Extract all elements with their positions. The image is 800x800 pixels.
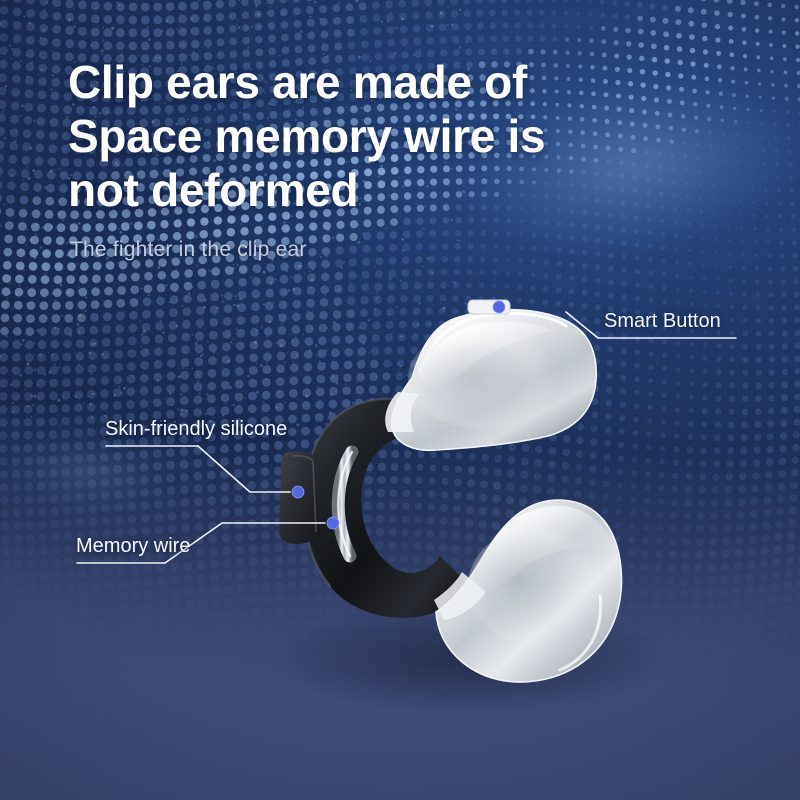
callout-label-memory-wire[interactable]: Memory wire (76, 535, 190, 558)
page-title: Clip ears are made of Space memory wire … (68, 56, 628, 217)
callout-label-smart-button[interactable]: Smart Button (604, 310, 721, 333)
page-subtitle: The fighter in the clip ear (70, 238, 307, 262)
product-banner: Clip ears are made of Space memory wire … (0, 0, 800, 800)
callout-label-skin-friendly-silicone[interactable]: Skin-friendly silicone (105, 418, 287, 441)
